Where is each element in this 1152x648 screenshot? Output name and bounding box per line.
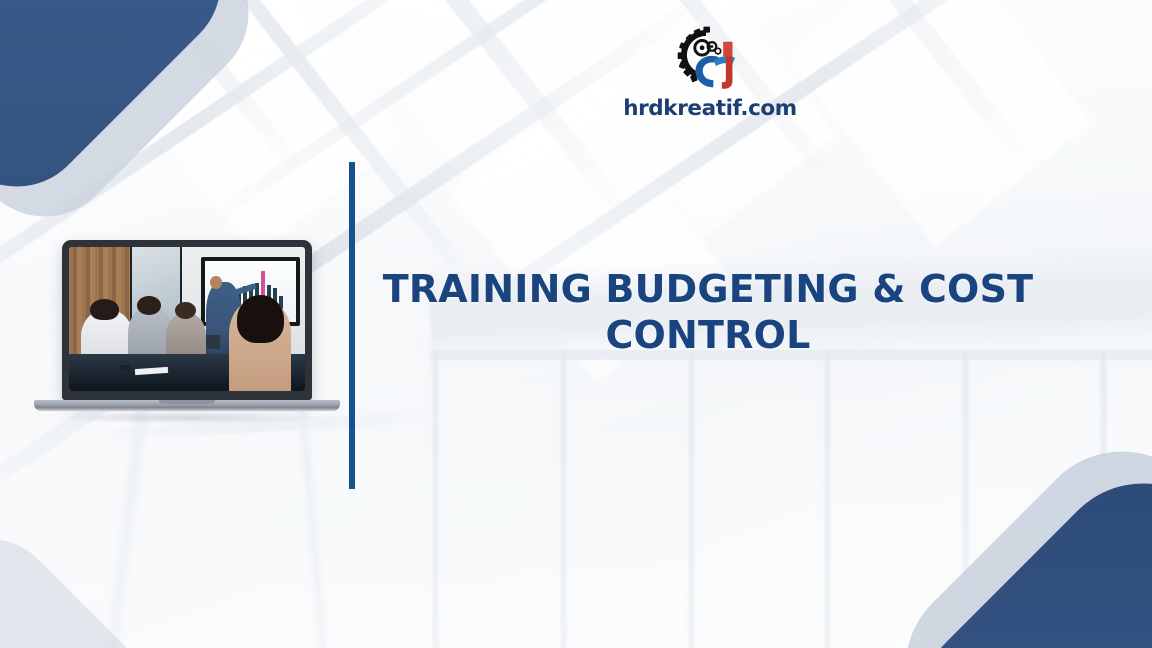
page-title: TRAINING BUDGETING & COST CONTROL (378, 266, 1038, 359)
laptop-lid (62, 240, 312, 400)
laptop-hinge-notch (159, 400, 215, 404)
training-banner: hrdkreatif.com TRAINING BUDGETING & COST… (0, 0, 1152, 648)
attendee-head (137, 296, 161, 315)
vertical-accent-bar (349, 162, 355, 489)
laptop-shadow (52, 412, 322, 424)
title-block: TRAINING BUDGETING & COST CONTROL (378, 266, 1038, 359)
laptop-mockup (34, 240, 340, 416)
foreground-attendee-head (237, 295, 284, 344)
meeting-room-photo (69, 247, 305, 391)
attendee-head (90, 299, 118, 321)
brand-logo[interactable]: hrdkreatif.com (624, 26, 796, 121)
presenter-head (210, 276, 223, 289)
laptop-screen (69, 247, 305, 391)
table-phone (119, 365, 131, 371)
hrdkreatif-gear-logo-icon (677, 26, 743, 92)
logo-wordmark: hrdkreatif.com (623, 96, 797, 121)
